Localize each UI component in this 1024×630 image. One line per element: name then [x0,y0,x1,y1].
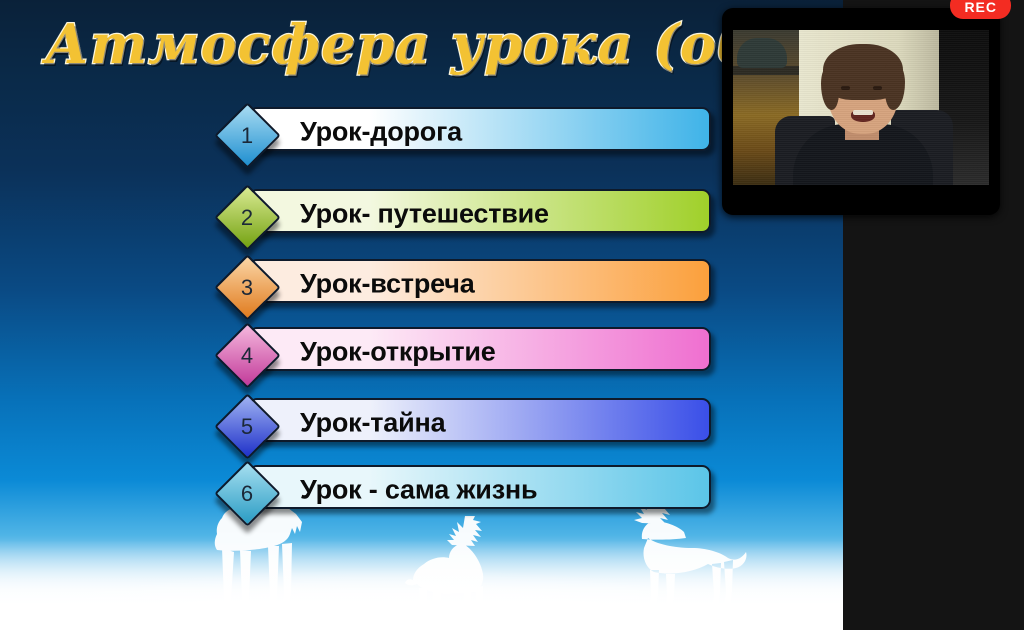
video-person-hair-left [821,66,839,110]
row-number: 2 [215,185,281,251]
webcam-video-panel[interactable] [722,8,1000,215]
row-diamond: 5 [215,394,281,460]
screen-root: 1 Урок-дорога 2 Урок- путешествие 3 Урок… [0,0,1024,630]
page-title: Атмосфера урока (обра [45,12,832,76]
row-number: 6 [215,461,281,527]
row-label: Урок-открытие [300,337,496,368]
deer-silhouette-right [620,496,750,626]
row-diamond: 1 [215,103,281,169]
recording-indicator-badge: REC [950,0,1011,19]
webcam-video-frame [733,30,989,185]
deer-silhouette-center [405,516,500,628]
row-number: 1 [215,103,281,169]
video-person-eye-left [841,86,850,90]
row-number: 3 [215,255,281,321]
row-diamond: 2 [215,185,281,251]
row-label: Урок-встреча [300,269,475,300]
row-diamond: 6 [215,461,281,527]
row-number: 4 [215,323,281,389]
video-person-teeth [853,110,873,115]
video-background-object [737,38,787,68]
row-diamond: 3 [215,255,281,321]
row-diamond: 4 [215,323,281,389]
row-label: Урок-тайна [300,408,445,439]
video-person-eye-right [873,86,882,90]
row-label: Урок- путешествие [300,199,549,230]
presentation-slide: 1 Урок-дорога 2 Урок- путешествие 3 Урок… [0,0,843,630]
row-number: 5 [215,394,281,460]
row-label: Урок-дорога [300,117,462,148]
row-label: Урок - сама жизнь [300,475,537,506]
